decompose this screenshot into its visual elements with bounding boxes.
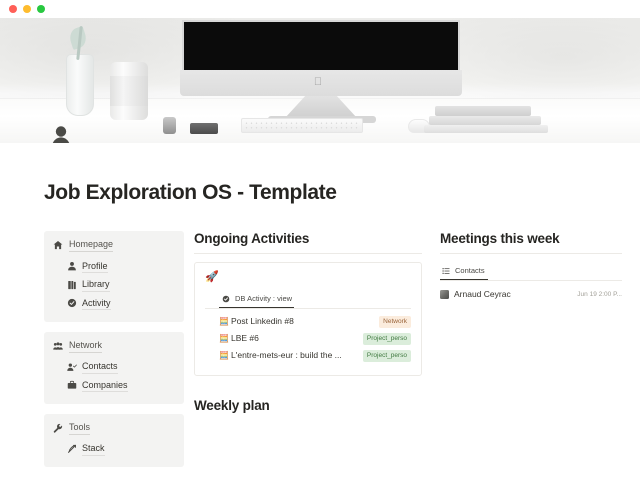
- person-avatar-icon[interactable]: [46, 119, 76, 143]
- meeting-time: Jun 19 2:00 P...: [577, 290, 622, 300]
- sidebar-label-homepage: Homepage: [69, 238, 113, 252]
- tab-db-activity-label: DB Activity : view: [235, 294, 292, 304]
- briefcase-icon: [67, 380, 77, 390]
- table-row[interactable]: 🧮 LBE #6 Project_perso: [205, 330, 411, 347]
- right-column: Meetings this week Contacts Arnaud Ceyra…: [440, 231, 640, 477]
- desk-watch: [163, 117, 176, 134]
- window-close-button[interactable]: [9, 5, 17, 13]
- page-title: Job Exploration OS - Template: [0, 143, 640, 205]
- ongoing-activities-heading: Ongoing Activities: [194, 231, 422, 246]
- main-column: Ongoing Activities 🚀 DB Activity : view …: [194, 231, 422, 477]
- sidebar-label-contacts: Contacts: [82, 360, 118, 374]
- table-row[interactable]: 🧮 Post Linkedin #8 Network: [205, 313, 411, 330]
- ongoing-activities-card: 🚀 DB Activity : view 🧮 Post Linkedin #8 …: [194, 262, 422, 376]
- window-minimize-button[interactable]: [23, 5, 31, 13]
- people-group-icon: [53, 341, 63, 351]
- sidebar-item-companies[interactable]: Companies: [53, 376, 175, 395]
- weekly-plan-section: Weekly plan: [194, 398, 422, 413]
- sidebar-item-activity[interactable]: Activity: [53, 294, 175, 313]
- three-column-layout: Homepage Profile Library: [0, 205, 640, 477]
- sidebar-item-contacts[interactable]: Contacts: [53, 358, 175, 377]
- sidebar-label-stack: Stack: [82, 442, 105, 456]
- home-icon: [53, 240, 63, 250]
- check-circle-icon: [67, 298, 77, 308]
- wrench-icon: [53, 423, 63, 433]
- activity-name: L'entre-mets-eur : build the ...: [231, 350, 357, 361]
- laptop-middle: [429, 116, 541, 125]
- page-content: Job Exploration OS - Template Homepage P…: [0, 143, 640, 477]
- laptop-top: [435, 106, 531, 116]
- nav-card-homepage: Homepage Profile Library: [44, 231, 184, 322]
- status-badge: Project_perso: [363, 350, 411, 362]
- sidebar-label-profile: Profile: [82, 260, 108, 274]
- bow-icon: [67, 444, 77, 454]
- status-badge: Network: [379, 316, 411, 328]
- meetings-heading: Meetings this week: [440, 231, 622, 246]
- meetings-divider: [440, 253, 622, 254]
- glass-vase: [66, 54, 94, 116]
- imac-display: [182, 20, 460, 70]
- status-badge: Project_perso: [363, 333, 411, 345]
- check-circle-icon: [221, 294, 231, 304]
- laptop-bottom: [424, 125, 548, 133]
- list-icon: [441, 266, 451, 276]
- person-check-icon: [67, 362, 77, 372]
- desk-phone: [190, 123, 218, 134]
- avatar: [440, 290, 449, 299]
- abacus-icon: 🧮: [219, 350, 231, 361]
- activity-name: Post Linkedin #8: [231, 316, 373, 327]
- sidebar-item-homepage[interactable]: Homepage: [53, 238, 175, 257]
- sidebar-item-stack[interactable]: Stack: [53, 440, 175, 459]
- apple-logo-icon: : [313, 76, 323, 88]
- nav-card-tools: Tools Stack: [44, 414, 184, 468]
- ongoing-activities-divider: [194, 253, 422, 254]
- keyboard-keys: [244, 121, 360, 130]
- page-cover-image: : [0, 18, 640, 143]
- tab-contacts-label: Contacts: [455, 266, 485, 276]
- table-row[interactable]: 🧮 L'entre-mets-eur : build the ... Proje…: [205, 347, 411, 364]
- sidebar-label-companies: Companies: [82, 379, 128, 393]
- sidebar-label-tools: Tools: [69, 421, 90, 435]
- sidebar-item-library[interactable]: Library: [53, 276, 175, 295]
- tab-db-activity-view[interactable]: DB Activity : view: [219, 294, 294, 308]
- abacus-icon: 🧮: [219, 316, 231, 327]
- abacus-icon: 🧮: [219, 333, 231, 344]
- smart-speaker-grille: [110, 76, 148, 106]
- sidebar-item-tools[interactable]: Tools: [53, 421, 175, 440]
- list-item[interactable]: Arnaud Ceyrac Jun 19 2:00 P...: [440, 287, 622, 302]
- contacts-divider: [440, 280, 622, 281]
- sidebar-item-network[interactable]: Network: [53, 339, 175, 358]
- sidebar-label-activity: Activity: [82, 297, 111, 311]
- person-icon: [67, 261, 77, 271]
- contact-name: Arnaud Ceyrac: [454, 289, 577, 300]
- db-activity-divider: [205, 308, 411, 309]
- sidebar-label-library: Library: [82, 278, 110, 292]
- sidebar-item-profile[interactable]: Profile: [53, 257, 175, 276]
- window-titlebar: [0, 0, 640, 18]
- sidebar-label-network: Network: [69, 339, 102, 353]
- tab-contacts[interactable]: Contacts: [440, 266, 488, 280]
- weekly-plan-heading: Weekly plan: [194, 398, 422, 413]
- nav-card-network: Network Contacts Companies: [44, 332, 184, 404]
- sidebar-column: Homepage Profile Library: [44, 231, 184, 477]
- activity-name: LBE #6: [231, 333, 357, 344]
- rocket-icon: 🚀: [205, 271, 411, 284]
- window-zoom-button[interactable]: [37, 5, 45, 13]
- book-icon: [67, 280, 77, 290]
